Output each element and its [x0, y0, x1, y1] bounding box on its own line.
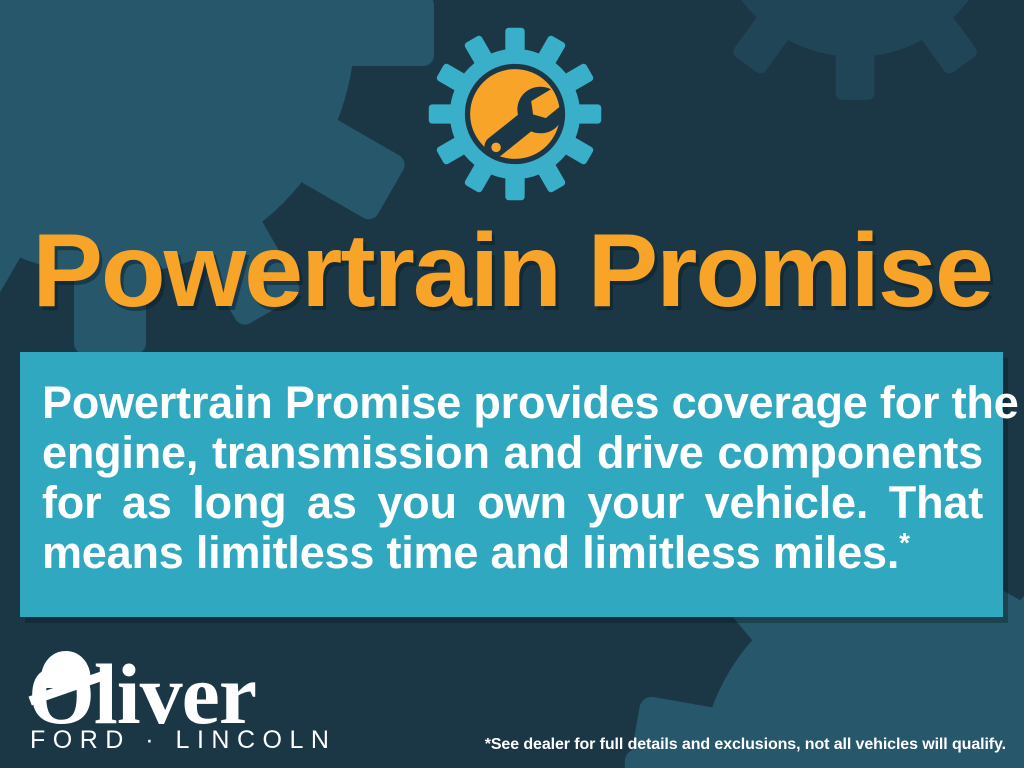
logo-artwork: Oliver FORD · LINCOLN [28, 641, 328, 753]
body-line-4-text: means limitless time and limitless miles… [42, 527, 899, 578]
coverage-description-panel: Powertrain Promise provides coverage for… [20, 352, 1003, 617]
background-gear-top-icon [640, 0, 1024, 130]
footnote-marker: * [899, 527, 910, 558]
oliver-ford-lincoln-logo: Oliver FORD · LINCOLN [28, 641, 328, 753]
body-line-2: engine, transmission and drive component… [42, 428, 983, 478]
body-line-3: for as long as you own your vehicle. Tha… [42, 478, 983, 528]
page-title: Powertrain Promise [0, 216, 1024, 326]
body-line-4: means limitless time and limitless miles… [42, 528, 983, 578]
logo-subbrand: FORD · LINCOLN [30, 726, 328, 753]
gear-wrench-icon [427, 26, 603, 202]
powertrain-promise-graphic: Powertrain Promise Powertrain Promise pr… [0, 0, 1024, 768]
background-gear-left-icon [0, 0, 470, 390]
coverage-description-text: Powertrain Promise provides coverage for… [42, 378, 983, 578]
disclaimer-text: *See dealer for full details and exclusi… [485, 736, 1006, 754]
body-line-1: Powertrain Promise provides coverage for… [42, 378, 983, 428]
